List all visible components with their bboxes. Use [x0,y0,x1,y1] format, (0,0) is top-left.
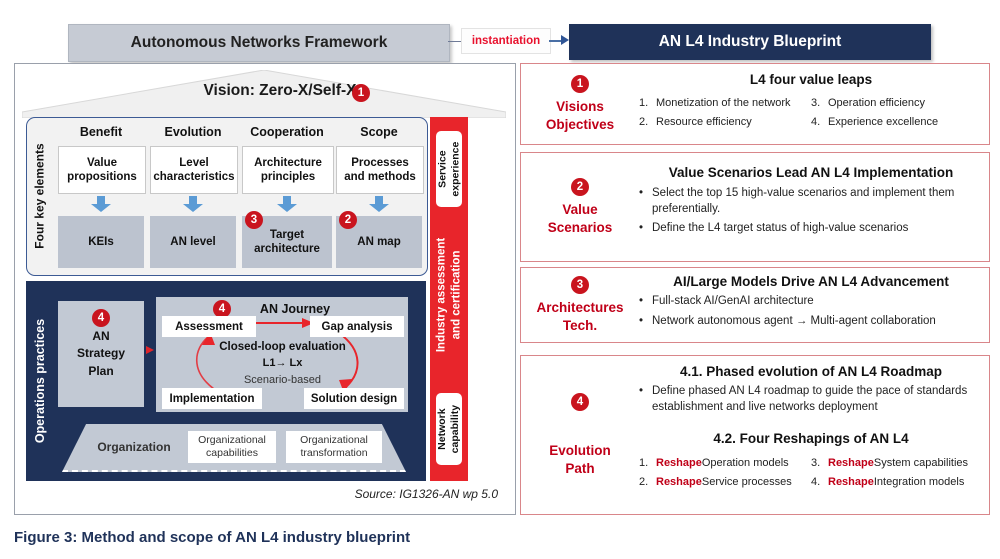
list-item: 4.Experience excellence [811,115,983,130]
section-2-body: Value Scenarios Lead AN L4 Implementatio… [639,153,983,261]
card-organizational-capabilities: Organizational capabilities [188,431,276,463]
item-number: 4. [811,115,828,130]
item-text: Operation models [702,456,789,471]
an-strategy-line-1: AN [92,328,109,345]
strategy-arrow-icon [146,346,154,354]
org-card-line-1: Organizational [198,434,266,447]
list-item: 2.Resource efficiency [639,115,811,130]
chip-service-experience-text: Serviceexperience [436,142,462,197]
section-1-numbered-right: 3.Operation efficiency 4.Experience exce… [811,92,983,130]
four-key-elements-text: Four key elements [33,143,47,248]
chip-network-capability-text: Networkcapability [436,405,462,453]
badge-2-an-map: 2 [339,211,357,229]
journey-node-assessment: Assessment [162,316,256,337]
bullet-icon: • [639,294,652,310]
section-3-title: ArchitecturesTech. [536,299,623,334]
item-text: Experience excellence [828,115,938,130]
column-head-cooperation: Cooperation [242,122,332,142]
section-4-heading-1: 4.1. Phased evolution of AN L4 Roadmap [639,364,983,379]
item-number: 3. [811,456,828,471]
list-item: 1.Monetization of the network [639,96,811,111]
list-item: •Network autonomous agent → Multi-agent … [639,314,975,330]
item-number: 1. [639,96,656,111]
card-organizational-transformation: Organizational transformation [286,431,382,463]
instantiation-arrow-icon [561,35,569,45]
section-1-body: L4 four value leaps 1.Monetization of th… [639,64,983,144]
vision-label: Vision: Zero-X/Self-X [150,79,410,103]
an-strategy-line-2: Strategy [77,345,125,362]
journey-closed-loop-label: Closed-loop evaluation [185,341,380,353]
section-2-label: 2 ValueScenarios [521,153,639,261]
card-line-1: Value [87,156,117,170]
column-head-benefit: Benefit [58,122,144,142]
item-number: 4. [811,475,828,490]
down-arrow-icon [277,196,297,212]
section-1-label: 1 VisionsObjectives [521,64,639,144]
item-number: 3. [811,96,828,111]
instantiation-text: instantiation [472,35,540,47]
badge-4-strategy: 4 [92,309,110,327]
journey-node-implementation: Implementation [162,388,262,409]
card-keis: KEIs [58,216,144,268]
item-text: Operation efficiency [828,96,925,111]
grey-line-2: architecture [254,242,320,256]
item-text: Integration models [874,475,965,490]
card-line-2: and methods [344,170,416,184]
bullet-icon: • [639,384,652,415]
item-text: Service processes [702,475,792,490]
grey-line-1: Target [270,228,304,242]
right-section-visions-objectives: 1 VisionsObjectives L4 four value leaps … [520,63,990,145]
card-processes-and-methods: Processes and methods [336,146,424,194]
section-3-heading: AI/Large Models Drive AN L4 Advancement [639,274,983,289]
card-architecture-principles: Architecture principles [242,146,334,194]
bullet-text: Full-stack AI/GenAI architecture [652,294,814,310]
section-4-heading-2: 4.2. Four Reshapings of AN L4 [639,431,983,446]
figure-caption: Figure 3: Method and scope of AN L4 indu… [14,524,614,550]
journey-node-solution-design: Solution design [304,388,404,409]
blueprint-title-banner: AN L4 Industry Blueprint [569,24,931,60]
card-line-1: Processes [351,156,409,170]
down-arrow-icon [183,196,203,212]
card-line-2: characteristics [153,170,234,184]
card-line-2: propositions [67,170,137,184]
bullet-text: Define phased AN L4 roadmap to guide the… [652,384,973,415]
column-head-scope: Scope [336,122,422,142]
section-4-numbered-left: 1.Reshape Operation models 2.Reshape Ser… [639,452,811,490]
list-item: 1.Reshape Operation models [639,456,811,471]
card-line-1: Level [179,156,208,170]
item-text: Resource efficiency [656,115,752,130]
bullet-text: Define the L4 target status of high-valu… [652,221,908,237]
item-highlight: Reshape [656,475,702,490]
section-4-body: 4.1. Phased evolution of AN L4 Roadmap •… [639,356,983,514]
list-item: •Define phased AN L4 roadmap to guide th… [639,384,973,415]
grey-line-1: AN level [170,235,215,249]
right-section-evolution-path: 4 EvolutionPath 4.1. Phased evolution of… [520,355,990,515]
org-card-line-2: transformation [300,447,367,460]
section-1-numbered-left: 1.Monetization of the network 2.Resource… [639,92,811,130]
down-arrow-icon [369,196,389,212]
card-line-1: Architecture [254,156,322,170]
org-card-line-2: capabilities [206,447,258,460]
right-section-architectures-tech: 3 ArchitecturesTech. AI/Large Models Dri… [520,267,990,343]
industry-assessment-label: Industry assessmentand certification [432,190,466,400]
list-item: •Select the top 15 high-value scenarios … [639,186,975,217]
org-card-line-1: Organizational [300,434,368,447]
bullet-icon: • [639,186,652,217]
item-highlight: Reshape [828,456,874,471]
list-item: 3.Operation efficiency [811,96,983,111]
badge-3: 3 [571,276,589,294]
section-4-title: EvolutionPath [549,442,611,477]
section-4-label: 4 EvolutionPath [521,356,639,514]
item-number: 1. [639,456,656,471]
badge-4: 4 [571,393,589,411]
journey-levels-label: L1→ Lx [185,357,380,369]
badge-1-vision: 1 [352,84,370,102]
item-text: System capabilities [874,456,968,471]
four-key-elements-label: Four key elements [28,122,52,270]
list-item: 3.Reshape System capabilities [811,456,983,471]
operations-practices-text: Operations practices [33,319,47,443]
framework-title-text: Autonomous Networks Framework [131,34,388,52]
right-section-value-scenarios: 2 ValueScenarios Value Scenarios Lead AN… [520,152,990,262]
section-1-heading: L4 four value leaps [639,72,983,87]
grey-line-1: AN map [357,235,400,249]
section-4-numbered-right: 3.Reshape System capabilities 4.Reshape … [811,452,983,490]
grey-line-1: KEIs [88,235,114,249]
bullet-icon: • [639,314,652,330]
operations-practices-label: Operations practices [28,283,52,479]
column-head-evolution: Evolution [150,122,236,142]
item-number: 2. [639,475,656,490]
journey-scenario-label: Scenario-based [185,374,380,386]
card-an-level: AN level [150,216,236,268]
an-strategy-line-3: Plan [88,363,113,380]
bullet-text: Network autonomous agent → Multi-agent c… [652,314,936,330]
section-1-title: VisionsObjectives [546,98,614,133]
organization-label: Organization [88,437,180,457]
connector-line [448,41,462,42]
blueprint-title-text: AN L4 Industry Blueprint [659,33,842,51]
chip-network-capability: Networkcapability [436,393,462,465]
badge-1: 1 [571,75,589,93]
list-item: •Define the L4 target status of high-val… [639,221,975,237]
section-3-body: AI/Large Models Drive AN L4 Advancement … [639,268,983,342]
card-value-propositions: Value propositions [58,146,146,194]
list-item: 2.Reshape Service processes [639,475,811,490]
item-highlight: Reshape [656,456,702,471]
section-2-title: ValueScenarios [548,201,613,236]
bullet-icon: • [639,221,652,237]
list-item: 4.Reshape Integration models [811,475,983,490]
section-2-heading: Value Scenarios Lead AN L4 Implementatio… [639,165,983,180]
card-line-2: principles [261,170,315,184]
badge-2: 2 [571,178,589,196]
section-3-label: 3 ArchitecturesTech. [521,268,639,342]
card-level-characteristics: Level characteristics [150,146,238,194]
bullet-text: Select the top 15 high-value scenarios a… [652,186,975,217]
instantiation-label: instantiation [461,28,551,54]
badge-3-target-architecture: 3 [245,211,263,229]
industry-assessment-text: Industry assessmentand certification [434,238,464,352]
item-highlight: Reshape [828,475,874,490]
vision-text: Vision: Zero-X/Self-X [203,82,356,100]
source-note: Source: IG1326-AN wp 5.0 [320,487,498,505]
journey-node-gap-analysis: Gap analysis [310,316,404,337]
framework-title-banner: Autonomous Networks Framework [68,24,450,62]
item-number: 2. [639,115,656,130]
list-item: •Full-stack AI/GenAI architecture [639,294,975,310]
item-text: Monetization of the network [656,96,791,111]
down-arrow-icon [91,196,111,212]
